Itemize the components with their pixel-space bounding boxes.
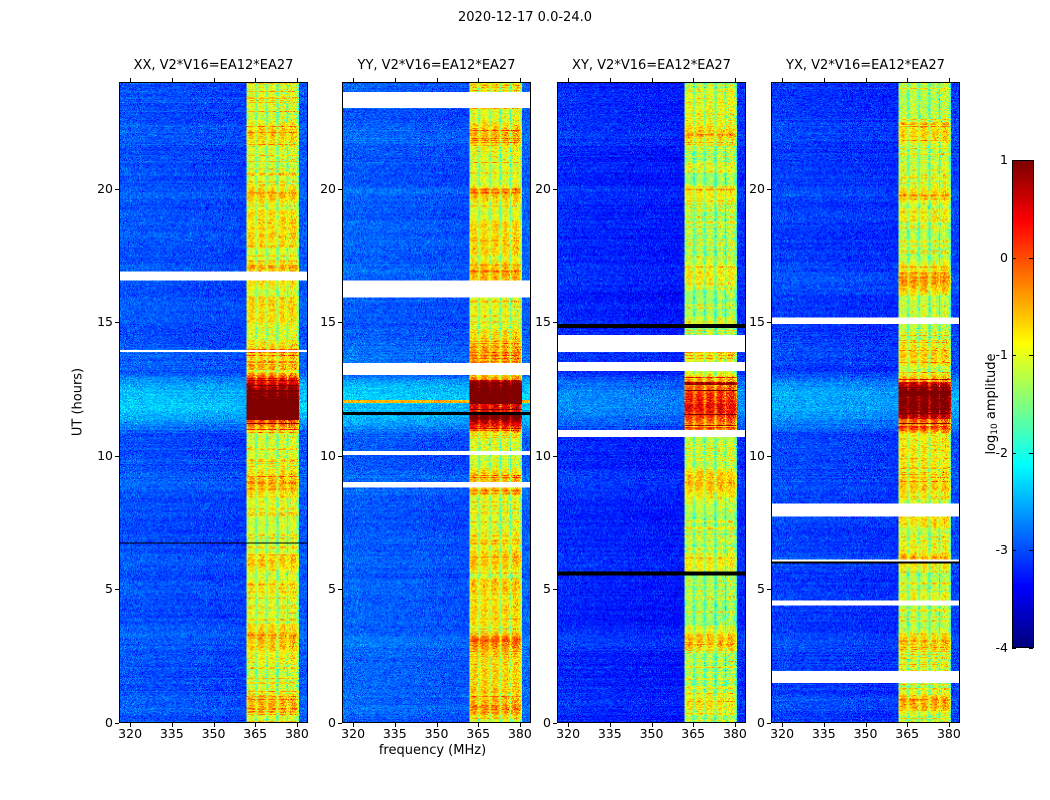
xtick-mark-top [866,78,867,82]
xtick-label: 365 [887,726,927,741]
xtick-mark-top [130,78,131,82]
ytick-label: 20 [306,181,336,196]
xtick-label: 335 [375,726,415,741]
ytick-mark [115,589,119,590]
panel-title-xy: XY, V2*V16=EA12*EA27 [557,58,746,78]
xtick-mark [395,723,396,727]
ytick-mark [767,322,771,323]
panel-yy[interactable] [342,82,531,723]
xtick-mark [866,723,867,727]
xtick-label: 335 [590,726,630,741]
ytick-mark [115,723,119,724]
xtick-mark [949,723,950,727]
xtick-mark [255,723,256,727]
colorbar-tick-label: -3 [980,542,1008,557]
ytick-label: 0 [306,715,336,730]
ytick-mark [553,456,557,457]
panel-title-yx: YX, V2*V16=EA12*EA27 [771,58,960,78]
ytick-mark [767,456,771,457]
xtick-mark-top [395,78,396,82]
panel-title-yy: YY, V2*V16=EA12*EA27 [342,58,531,78]
xtick-label: 335 [804,726,844,741]
ytick-label: 10 [306,448,336,463]
xtick-label: 350 [417,726,457,741]
colorbar-tick-mark-right [1029,648,1033,649]
ytick-mark [338,189,342,190]
colorbar-label-rest: amplitude [984,353,999,423]
ytick-label: 10 [521,448,551,463]
panel-yx[interactable] [771,82,960,723]
panel-xx[interactable] [119,82,308,723]
ytick-label: 10 [735,448,765,463]
colorbar-label: log10 amplitude [984,353,1000,454]
xtick-label: 365 [673,726,713,741]
colorbar-tick-label: 0 [980,250,1008,265]
ytick-label: 5 [735,581,765,596]
ytick-label: 20 [735,181,765,196]
xtick-mark-top [693,78,694,82]
xtick-mark [478,723,479,727]
ytick-label: 10 [83,448,113,463]
colorbar-label-subscript: 10 [990,423,1000,434]
xtick-label: 380 [929,726,969,741]
x-axis-label: frequency (MHz) [0,743,865,758]
xtick-mark-top [172,78,173,82]
xtick-label: 320 [548,726,588,741]
ytick-label: 15 [735,314,765,329]
ytick-mark [338,456,342,457]
xtick-mark-top [907,78,908,82]
colorbar-tick-mark-right [1029,258,1033,259]
xtick-mark-top [652,78,653,82]
xtick-mark-top [520,78,521,82]
xtick-mark-top [255,78,256,82]
xtick-mark [782,723,783,727]
colorbar-tick-label: 1 [980,152,1008,167]
xtick-mark [824,723,825,727]
spectrogram-xy [558,83,745,722]
spectrogram-yx [772,83,959,722]
colorbar-tick-mark-right [1029,453,1033,454]
xtick-label: 335 [152,726,192,741]
xtick-mark-top [735,78,736,82]
xtick-mark [652,723,653,727]
ytick-label: 0 [521,715,551,730]
xtick-mark [907,723,908,727]
ytick-mark [553,189,557,190]
colorbar-tick-mark-right [1029,160,1033,161]
xtick-mark-top [782,78,783,82]
colorbar-tick-mark [1012,550,1016,551]
xtick-label: 365 [235,726,275,741]
colorbar-tick-mark [1012,160,1016,161]
colorbar-tick-mark [1012,453,1016,454]
xtick-mark [353,723,354,727]
ytick-mark [553,723,557,724]
xtick-label: 320 [333,726,373,741]
colorbar-tick-mark [1012,355,1016,356]
colorbar-label-base: log [984,435,999,455]
colorbar-tick-mark [1012,258,1016,259]
panel-title-xx: XX, V2*V16=EA12*EA27 [119,58,308,78]
xtick-mark [297,723,298,727]
spectrogram-yy [343,83,530,722]
ytick-mark [115,189,119,190]
ytick-label: 15 [83,314,113,329]
ytick-mark [767,723,771,724]
xtick-mark [437,723,438,727]
ytick-label: 5 [521,581,551,596]
xtick-label: 350 [194,726,234,741]
xtick-mark-top [568,78,569,82]
xtick-mark-top [824,78,825,82]
xtick-mark-top [214,78,215,82]
ytick-mark [767,189,771,190]
xtick-mark [214,723,215,727]
ytick-mark [338,322,342,323]
xtick-mark-top [949,78,950,82]
figure-suptitle: 2020-12-17 0.0-24.0 [0,10,1050,25]
ytick-mark [115,322,119,323]
xtick-mark-top [353,78,354,82]
spectrogram-xx [120,83,307,722]
ytick-mark [338,589,342,590]
xtick-label: 320 [762,726,802,741]
xtick-mark [610,723,611,727]
ytick-mark [553,322,557,323]
ytick-label: 0 [735,715,765,730]
xtick-mark-top [297,78,298,82]
ytick-mark [767,589,771,590]
xtick-label: 350 [846,726,886,741]
xtick-mark [172,723,173,727]
ytick-mark [553,589,557,590]
ytick-label: 20 [521,181,551,196]
ytick-label: 20 [83,181,113,196]
colorbar-tick-mark [1012,648,1016,649]
xtick-mark-top [610,78,611,82]
colorbar-tick-mark-right [1029,550,1033,551]
ytick-mark [115,456,119,457]
xtick-mark [568,723,569,727]
y-axis-label: UT (hours) [71,368,86,436]
colorbar-tick-label: -4 [980,640,1008,655]
ytick-label: 15 [306,314,336,329]
ytick-label: 15 [521,314,551,329]
panel-xy[interactable] [557,82,746,723]
ytick-label: 5 [83,581,113,596]
ytick-label: 0 [83,715,113,730]
figure-canvas: 2020-12-17 0.0-24.0 XX, V2*V16=EA12*EA27… [0,0,1050,800]
xtick-mark-top [478,78,479,82]
xtick-mark [130,723,131,727]
xtick-label: 320 [110,726,150,741]
ytick-mark [338,723,342,724]
colorbar[interactable] [1012,160,1034,648]
xtick-label: 350 [632,726,672,741]
xtick-mark-top [437,78,438,82]
xtick-label: 365 [458,726,498,741]
colorbar-tick-mark-right [1029,355,1033,356]
ytick-label: 5 [306,581,336,596]
xtick-mark [693,723,694,727]
